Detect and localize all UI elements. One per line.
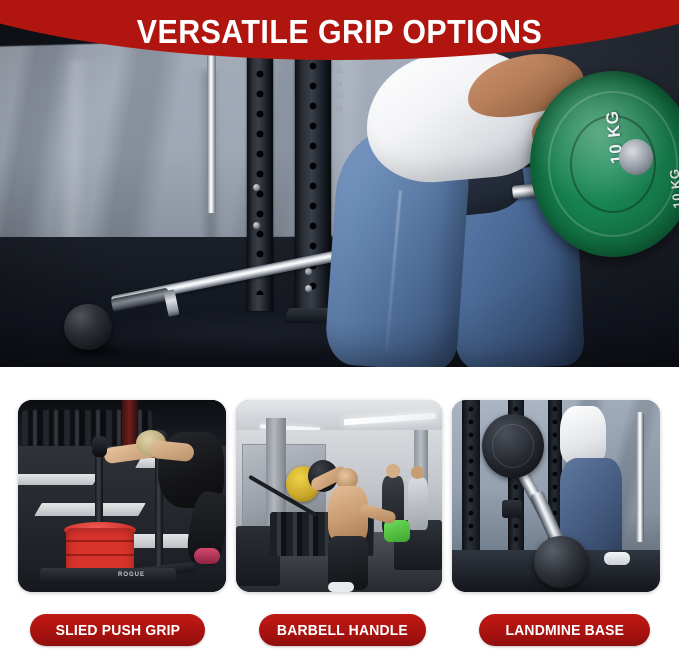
rack-number-scale: 17 16 15 14 13 12 — [335, 44, 342, 113]
rack-number: 14 — [335, 82, 342, 88]
rack-upright — [462, 400, 480, 550]
landmine-clamp — [502, 500, 522, 518]
chrome-pipe — [207, 55, 216, 213]
rack-number: 13 — [335, 94, 342, 100]
thumbnail-barbell-handle-art — [236, 400, 442, 592]
rack-number: 16 — [335, 57, 342, 63]
thumbnail-sled-push-art: ROGUE — [18, 400, 226, 592]
caption-label: BARBELL HANDLE — [277, 622, 408, 639]
caption-barbell-handle[interactable]: BARBELL HANDLE — [259, 614, 426, 646]
floor-stripe — [34, 503, 146, 516]
floor-stripe — [18, 474, 99, 485]
background-person-head — [386, 464, 400, 478]
lifter-shoe — [604, 552, 630, 565]
caption-label: SLIED PUSH GRIP — [55, 622, 179, 639]
landmine-ball-base — [64, 304, 112, 350]
rack-bolt — [305, 285, 312, 292]
lifter-torso — [560, 406, 606, 464]
caption-landmine-base[interactable]: LANDMINE BASE — [479, 614, 650, 646]
caption-sled-push-grip[interactable]: SLIED PUSH GRIP — [30, 614, 205, 646]
hero-image: 17 16 15 14 13 12 — [0, 0, 679, 367]
hero-photo-art: 17 16 15 14 13 12 — [0, 0, 679, 367]
rack-bolt — [253, 184, 260, 191]
sled-base — [40, 568, 176, 584]
black-bumper-plate — [482, 414, 544, 478]
thumbnail-landmine-base[interactable] — [452, 400, 660, 592]
background-person-head — [411, 466, 424, 479]
rack-bolt — [253, 222, 260, 229]
sled-brand-logo: ROGUE — [118, 572, 145, 578]
rack-number: 15 — [335, 69, 342, 75]
thumbnail-row: ROGUE — [0, 400, 679, 596]
rack-holes — [256, 50, 264, 295]
lifter-shoe — [328, 582, 354, 592]
background-barbell — [636, 412, 644, 542]
plate-weight-label-secondary: 10 KG — [666, 168, 679, 209]
background-person — [408, 478, 428, 530]
plate-hub — [619, 139, 653, 175]
rack-upright: 17 16 15 14 13 12 — [295, 28, 331, 316]
thumbnail-landmine-base-art — [452, 400, 660, 592]
plate-ring — [492, 424, 534, 468]
sled-grip — [92, 436, 107, 457]
thumbnail-sled-push-grip[interactable]: ROGUE — [18, 400, 226, 592]
athlete-shoe — [194, 548, 220, 564]
thumbnail-barbell-handle[interactable] — [236, 400, 442, 592]
caption-row: SLIED PUSH GRIP BARBELL HANDLE LANDMINE … — [0, 614, 679, 648]
landmine-ball-base — [534, 536, 588, 588]
rack-holes — [469, 406, 474, 544]
rack-bolt — [305, 268, 312, 275]
rack-number: 12 — [335, 107, 342, 113]
caption-label: LANDMINE BASE — [505, 622, 624, 639]
page-title: VERSATILE GRIP OPTIONS — [27, 13, 652, 51]
